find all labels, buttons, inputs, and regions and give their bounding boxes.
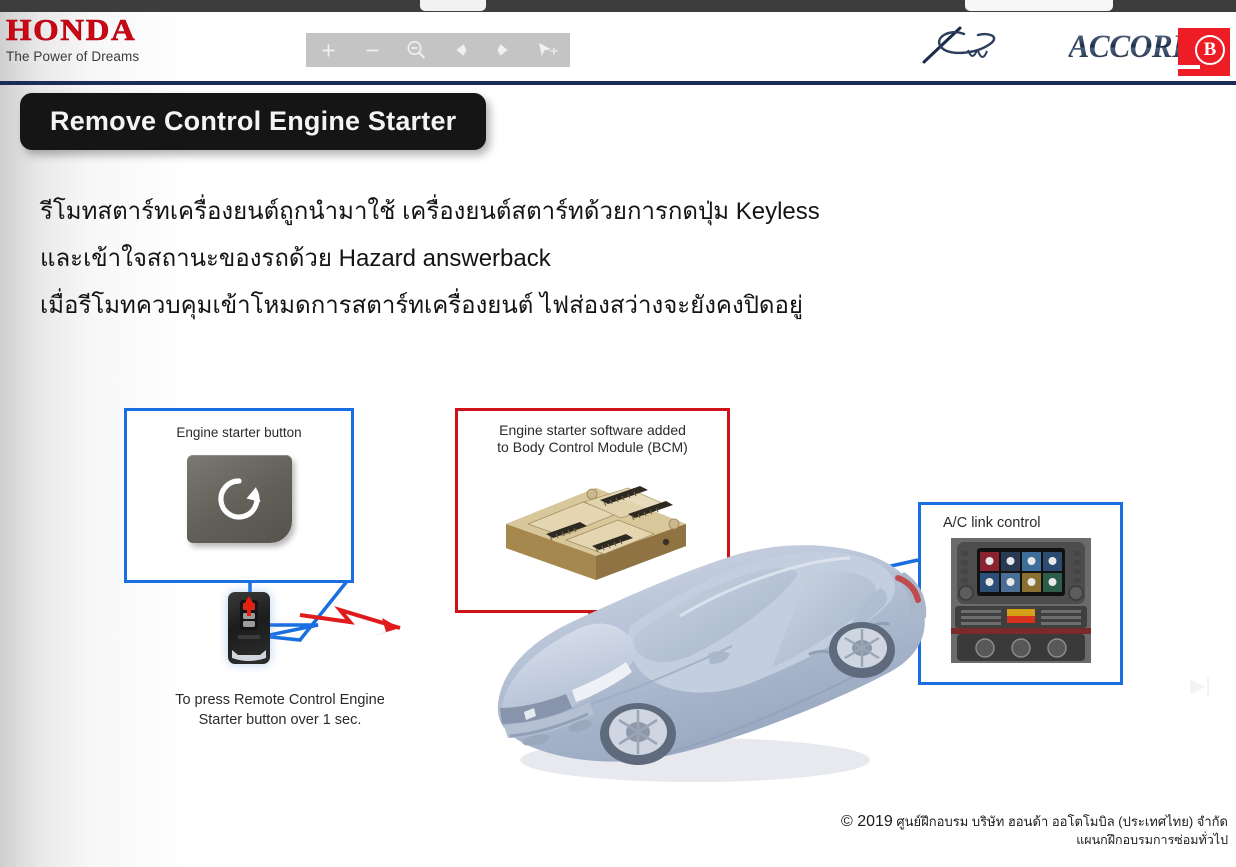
previous-page-icon[interactable]: [444, 37, 476, 63]
body-line-2: และเข้าใจสถานะของรถด้วย Hazard answerbac…: [40, 235, 1040, 282]
honda-logo: HONDA The Power of Dreams: [6, 14, 226, 64]
honda-tagline: The Power of Dreams: [6, 49, 226, 64]
ac-infotainment-graphic: [951, 538, 1091, 663]
pointer-move-icon[interactable]: [532, 37, 564, 63]
accord-car-illustration: [480, 508, 950, 798]
accord-wordmark: ACCORD: [1069, 29, 1195, 66]
callout-bcm-title-line-1: Engine starter software added: [499, 422, 686, 438]
window-chrome-bar: [0, 0, 1236, 12]
fob-caption-line-1: To press Remote Control Engine: [120, 690, 440, 710]
slide-footer: © 2019 ศูนย์ฝึกอบรม บริษัท ฮอนด้า ออโตโม…: [808, 812, 1228, 850]
page-title: Remove Control Engine Starter: [50, 106, 456, 137]
slide-body-text: รีโมทสตาร์ทเครื่องยนต์ถูกนำมาใช้ เครื่อง…: [40, 188, 1040, 329]
footer-copyright-year: © 2019: [841, 813, 893, 830]
accord-badge-letter: B: [1195, 35, 1225, 65]
engine-start-circular-arrow-icon: [211, 471, 267, 527]
accord-swoosh-icon: [920, 24, 1040, 68]
key-fob-graphic: [228, 592, 274, 670]
engine-start-button-graphic[interactable]: [187, 455, 292, 543]
zoom-in-icon[interactable]: [312, 37, 344, 63]
skip-to-end-icon[interactable]: ▶|: [1190, 676, 1211, 696]
viewer-toolbar[interactable]: [306, 33, 570, 67]
key-fob-caption: To press Remote Control Engine Starter b…: [120, 690, 440, 730]
next-page-icon[interactable]: [488, 37, 520, 63]
callout-engine-starter-title: Engine starter button: [127, 424, 351, 441]
page-header: HONDA The Power of Dreams: [0, 12, 1236, 69]
zoom-out-icon[interactable]: [356, 37, 388, 63]
callout-engine-starter-button: Engine starter button: [124, 408, 354, 583]
accord-logo: ACCORD B: [920, 22, 1180, 68]
header-divider: [0, 81, 1236, 85]
body-line-1: รีโมทสตาร์ทเครื่องยนต์ถูกนำมาใช้ เครื่อง…: [40, 188, 1040, 235]
slide-page: HONDA The Power of Dreams: [0, 0, 1236, 867]
body-line-3: เมื่อรีโมทควบคุมเข้าโหมดการสตาร์ทเครื่อง…: [40, 282, 1040, 329]
chrome-tab-left[interactable]: [420, 0, 486, 11]
diagram-area: Engine starter button Engine starter sof…: [0, 370, 1236, 810]
accord-badge: B: [1178, 28, 1230, 76]
fob-caption-line-2: Starter button over 1 sec.: [120, 710, 440, 730]
chrome-tab-right[interactable]: [965, 0, 1113, 11]
honda-wordmark: HONDA: [6, 14, 239, 45]
callout-bcm-title-line-2: to Body Control Module (BCM): [497, 439, 688, 455]
magnifier-minus-icon[interactable]: [400, 37, 432, 63]
slide-title-pill: Remove Control Engine Starter: [20, 93, 486, 150]
callout-ac-title: A/C link control: [921, 515, 1120, 532]
footer-department: แผนกฝึกอบรมการซ่อมทั่วไป: [808, 831, 1228, 850]
footer-company: ศูนย์ฝึกอบรม บริษัท ฮอนด้า ออโตโมบิล (ปร…: [896, 814, 1228, 829]
